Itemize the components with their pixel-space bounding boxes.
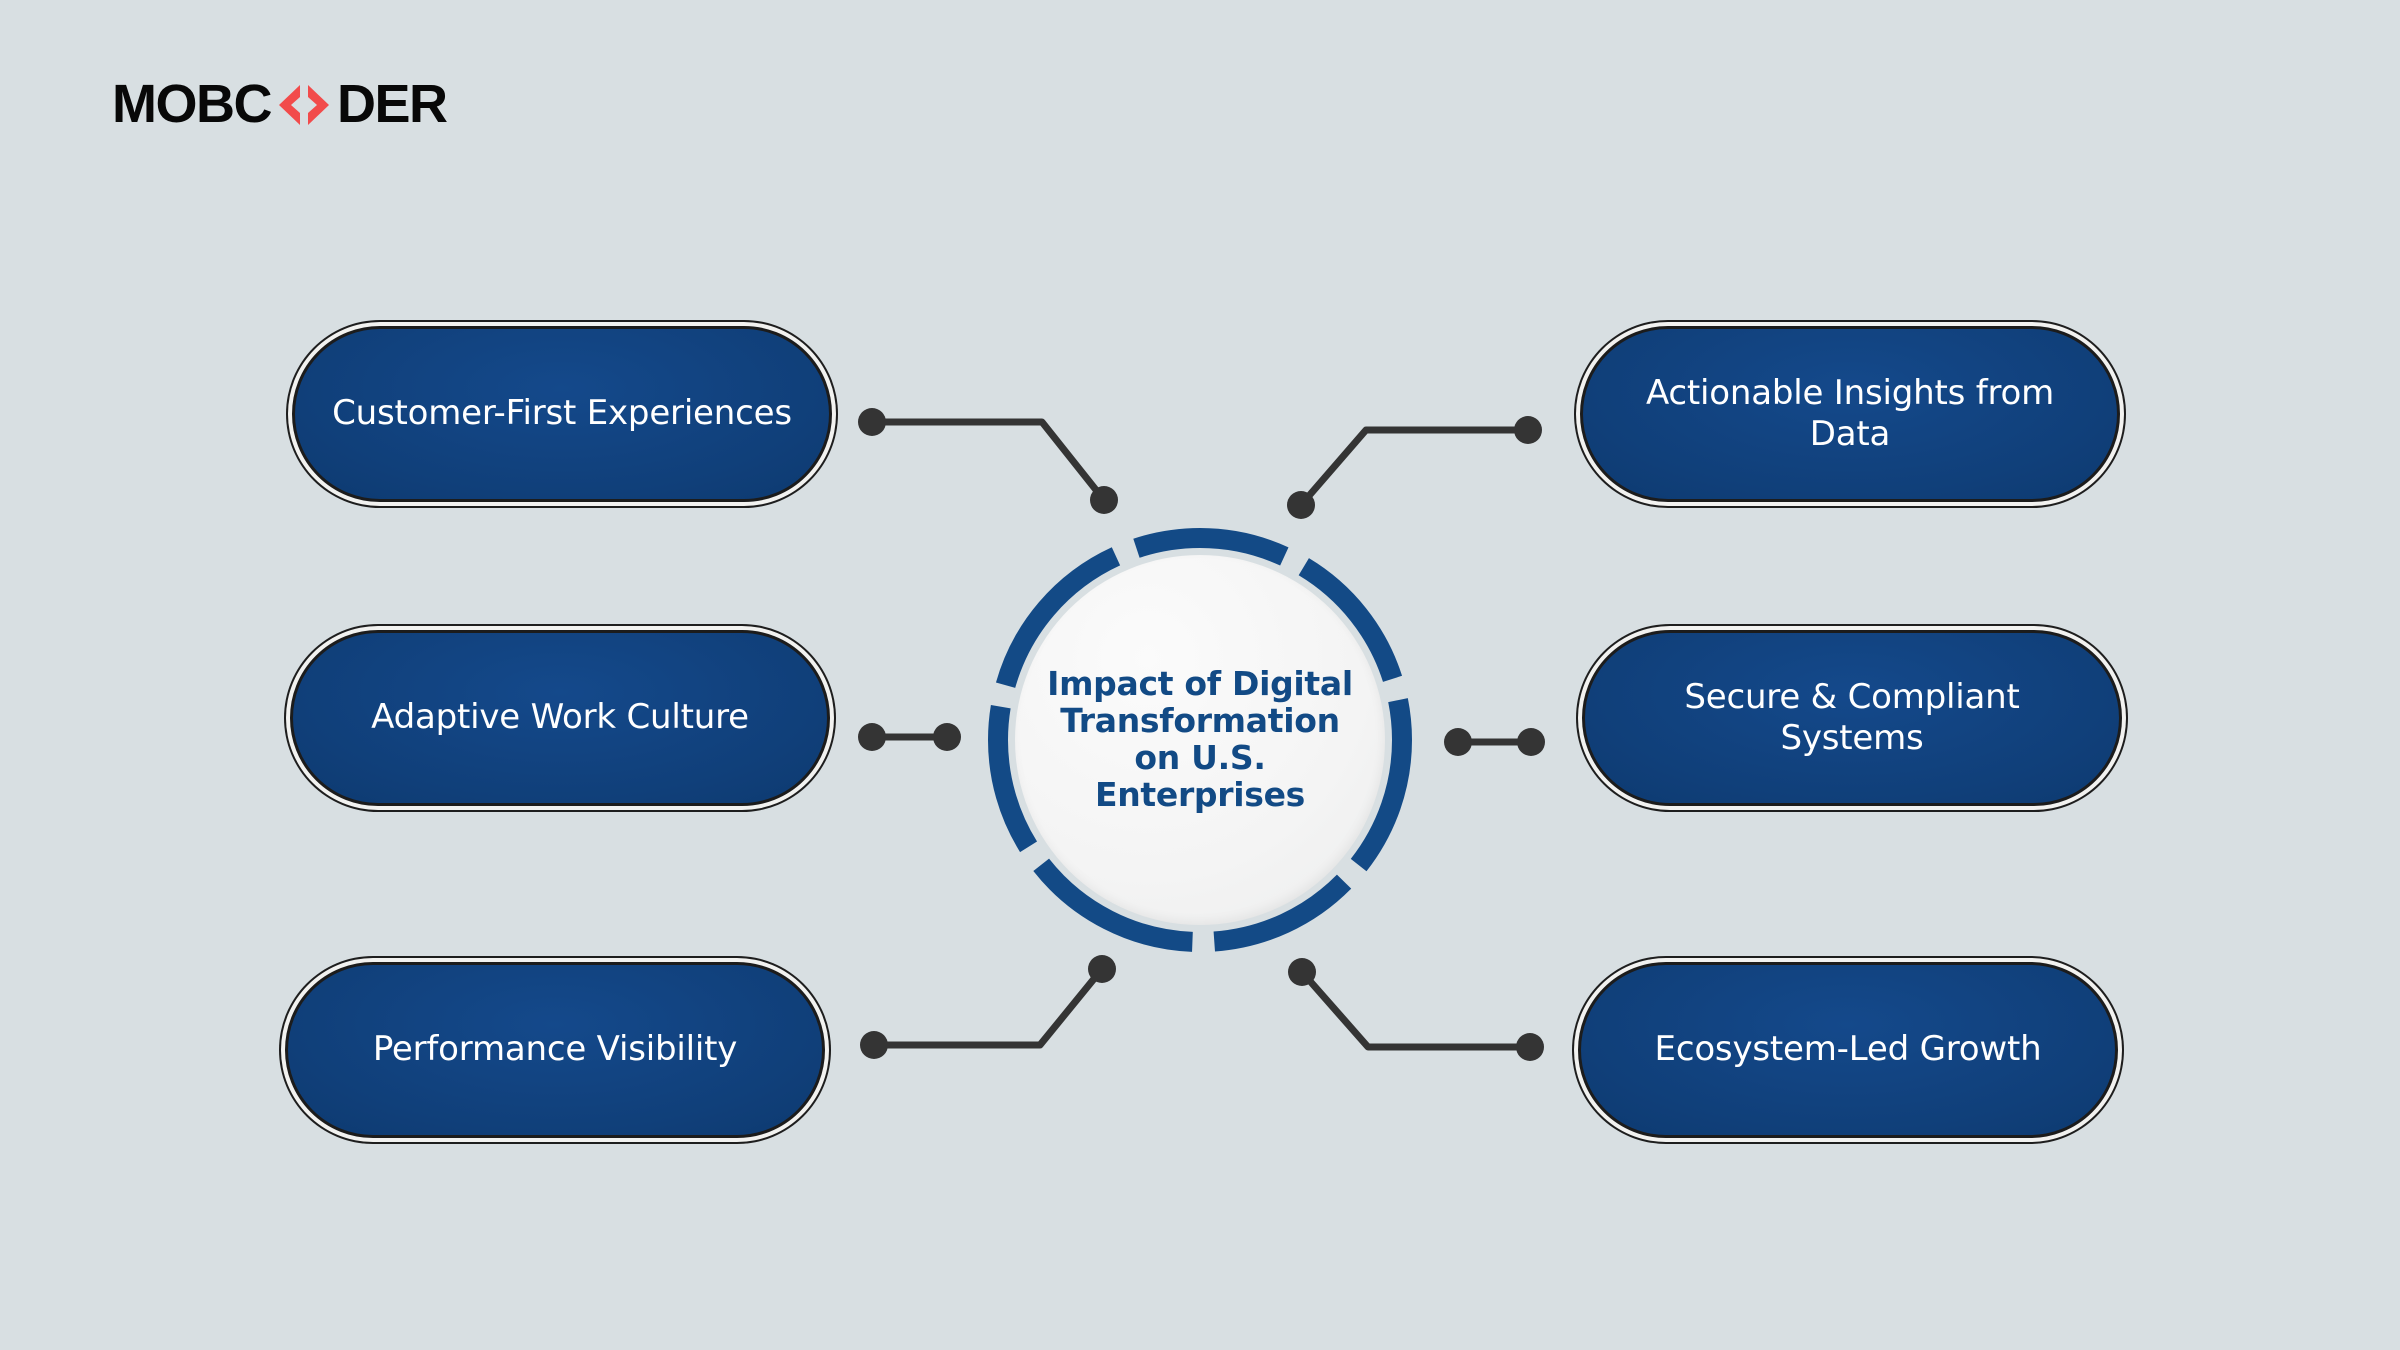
node-ecosystem-led-growth[interactable]: Ecosystem-Led Growth (1578, 962, 2118, 1138)
node-label: Actionable Insights from Data (1583, 373, 2117, 456)
node-secure-compliant-systems[interactable]: Secure & Compliant Systems (1582, 630, 2122, 806)
connector-secure-compliant-systems (1444, 728, 1545, 756)
connector-adaptive-work-culture (858, 723, 961, 751)
hub-disc: Impact of Digital Transformation on U.S.… (1015, 555, 1385, 925)
node-performance-visibility[interactable]: Performance Visibility (285, 962, 825, 1138)
node-label: Ecosystem-Led Growth (1629, 1029, 2068, 1070)
node-label: Performance Visibility (347, 1029, 763, 1070)
node-actionable-insights[interactable]: Actionable Insights from Data (1580, 326, 2120, 502)
center-hub: Impact of Digital Transformation on U.S.… (985, 525, 1415, 955)
connector-customer-first-experiences (858, 408, 1118, 514)
diagram-canvas: MOBC DER (0, 0, 2400, 1350)
connector-performance-visibility (860, 955, 1116, 1059)
node-label: Customer-First Experiences (306, 393, 818, 434)
connector-actionable-insights (1287, 416, 1542, 519)
connector-ecosystem-led-growth (1288, 958, 1544, 1061)
node-label: Adaptive Work Culture (345, 697, 775, 738)
node-adaptive-work-culture[interactable]: Adaptive Work Culture (290, 630, 830, 806)
node-label: Secure & Compliant Systems (1585, 677, 2119, 760)
hub-title: Impact of Digital Transformation on U.S.… (1035, 666, 1365, 814)
node-customer-first-experiences[interactable]: Customer-First Experiences (292, 326, 832, 502)
